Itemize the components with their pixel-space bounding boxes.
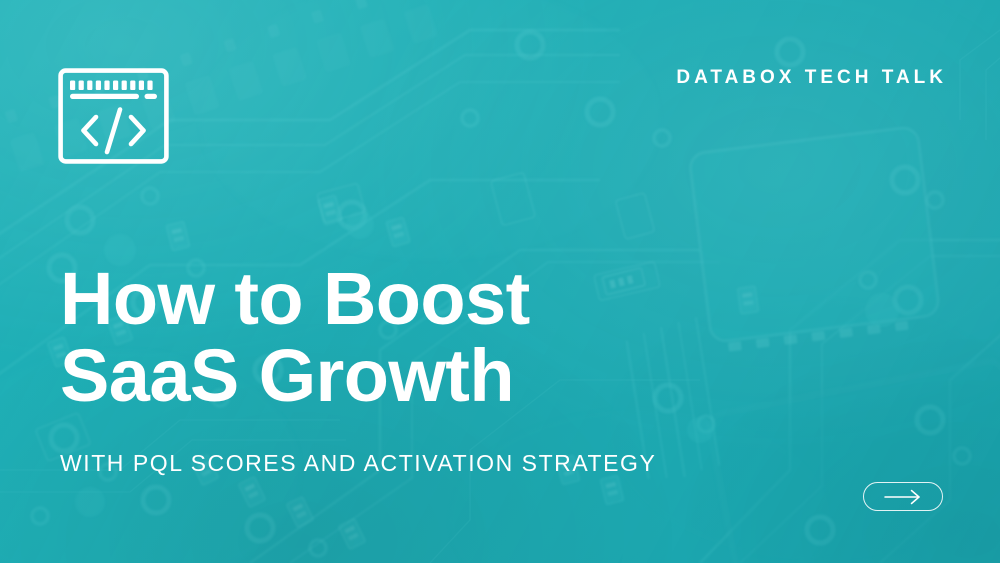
page-title-line-1: How to Boost [60,262,530,336]
page-title: How to Boost SaaS Growth [60,262,530,413]
code-window-icon [58,68,169,164]
arrow-right-icon [882,489,924,505]
eyebrow-label: DATABOX TECH TALK [676,68,947,87]
page-subtitle: WITH PQL SCORES AND ACTIVATION STRATEGY [60,452,656,475]
tech-talk-title-slide: DATABOX TECH TALK How to Boost SaaS Grow… [0,0,1000,563]
next-button[interactable] [863,482,943,511]
page-title-line-2: SaaS Growth [60,339,530,413]
